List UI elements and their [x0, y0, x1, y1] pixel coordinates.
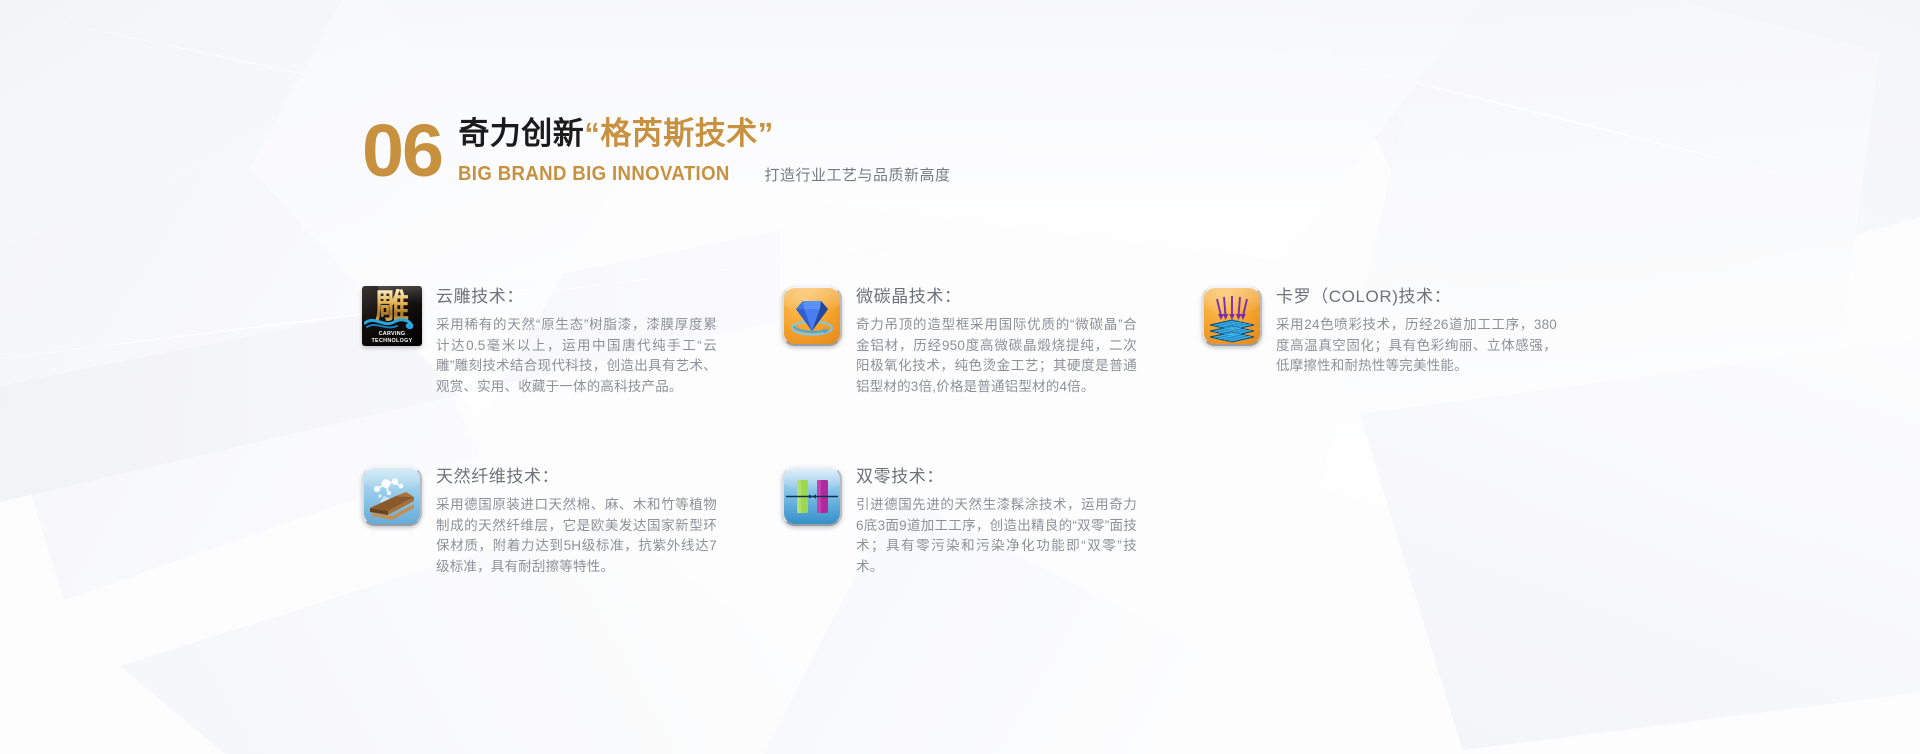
molecule-wood-glyph-icon — [362, 466, 422, 526]
tech-card-natural-fiber[interactable]: 天然纤维技术： 采用德国原装进口天然棉、麻、木和竹等植物制成的天然纤维层，它是欧… — [362, 466, 717, 577]
bars-glyph-icon — [782, 466, 842, 526]
card-description: 引进德国先进的天然生漆髹涂技术，运用奇力6底3面9道加工工序，创造出精良的“双零… — [856, 495, 1137, 577]
page-title-main: 奇力创新 — [458, 116, 584, 151]
tech-card-double-zero[interactable]: 双零技术： 引进德国先进的天然生漆髹涂技术，运用奇力6底3面9道加工工序，创造出… — [782, 466, 1137, 577]
tech-card-empty-slot — [1202, 466, 1557, 577]
card-title: 卡罗（COLOR)技术： — [1276, 286, 1557, 308]
page-title-quoted: “格芮斯技术” — [584, 116, 774, 151]
card-title: 微碳晶技术： — [856, 286, 1137, 308]
section-subtitle: BIG BRAND BIG INNOVATION 打造行业工艺与品质新高度 — [458, 163, 950, 186]
tech-card-carving[interactable]: 雕 CARVING TECHNOLOGY 云雕技术： 采用稀有的天然“原生态”树… — [362, 286, 717, 397]
tech-card-micro-carbon-crystal[interactable]: 微碳晶技术： 奇力吊顶的造型框采用国际优质的“微碳晶”合金铝材，历经950度高微… — [782, 286, 1137, 397]
tech-card-body: 双零技术： 引进德国先进的天然生漆髹涂技术，运用奇力6底3面9道加工工序，创造出… — [856, 466, 1137, 577]
carving-icon-wave — [364, 312, 420, 330]
subtitle-chinese: 打造行业工艺与品质新高度 — [765, 164, 951, 185]
card-title: 双零技术： — [856, 466, 1137, 488]
section-number: 06 — [362, 114, 442, 184]
tech-card-body: 天然纤维技术： 采用德国原装进口天然棉、麻、木和竹等植物制成的天然纤维层，它是欧… — [436, 466, 717, 577]
carving-caption-line-2: TECHNOLOGY — [362, 338, 422, 344]
double-zero-bars-icon — [782, 466, 842, 526]
section-header: 06 奇力创新“格芮斯技术” BIG BRAND BIG INNOVATION … — [362, 114, 951, 186]
spray-arrows-layers-glyph-icon — [1202, 286, 1262, 346]
double-zero-icon-box — [782, 466, 842, 526]
carving-technology-icon: 雕 CARVING TECHNOLOGY — [362, 286, 422, 346]
color-icon-box — [1202, 286, 1262, 346]
tech-card-color[interactable]: 卡罗（COLOR)技术： 采用24色喷彩技术，历经26道加工工序，380度高温真… — [1202, 286, 1557, 397]
diamond-glyph-icon — [782, 286, 842, 346]
subtitle-english: BIG BRAND BIG INNOVATION — [458, 163, 730, 186]
technology-cards-grid: 雕 CARVING TECHNOLOGY 云雕技术： 采用稀有的天然“原生态”树… — [362, 286, 1602, 577]
cards-row-2: 天然纤维技术： 采用德国原装进口天然棉、麻、木和竹等植物制成的天然纤维层，它是欧… — [362, 466, 1602, 577]
background-edge-2 — [1230, 35, 1910, 206]
section-header-text: 奇力创新“格芮斯技术” BIG BRAND BIG INNOVATION 打造行… — [458, 114, 950, 186]
card-description: 采用稀有的天然“原生态”树脂漆，漆膜厚度累计达0.5毫米以上，运用中国唐代纯手工… — [436, 315, 717, 397]
page-title: 奇力创新“格芮斯技术” — [458, 114, 950, 154]
tech-card-body: 微碳晶技术： 奇力吊顶的造型框采用国际优质的“微碳晶”合金铝材，历经950度高微… — [856, 286, 1137, 397]
micro-carbon-crystal-diamond-icon — [782, 286, 842, 346]
diamond-icon-box — [782, 286, 842, 346]
fiber-icon-box — [362, 466, 422, 526]
card-description: 奇力吊顶的造型框采用国际优质的“微碳晶”合金铝材，历经950度高微碳晶煅烧提纯，… — [856, 315, 1137, 397]
card-description: 采用德国原装进口天然棉、麻、木和竹等植物制成的天然纤维层，它是欧美发达国家新型环… — [436, 495, 717, 577]
color-spray-layers-icon — [1202, 286, 1262, 346]
page-root: 06 奇力创新“格芮斯技术” BIG BRAND BIG INNOVATION … — [0, 0, 1920, 754]
natural-fiber-molecule-wood-icon — [362, 466, 422, 526]
tech-card-body: 云雕技术： 采用稀有的天然“原生态”树脂漆，漆膜厚度累计达0.5毫米以上，运用中… — [436, 286, 717, 397]
card-description: 采用24色喷彩技术，历经26道加工工序，380度高温真空固化；具有色彩绚丽、立体… — [1276, 315, 1557, 377]
background-edge-3 — [0, 2, 514, 119]
carving-icon-box: 雕 CARVING TECHNOLOGY — [362, 286, 422, 346]
cards-row-1: 雕 CARVING TECHNOLOGY 云雕技术： 采用稀有的天然“原生态”树… — [362, 286, 1602, 397]
carving-icon-caption: CARVING TECHNOLOGY — [362, 331, 422, 344]
card-title: 云雕技术： — [436, 286, 717, 308]
tech-card-body: 卡罗（COLOR)技术： 采用24色喷彩技术，历经26道加工工序，380度高温真… — [1276, 286, 1557, 377]
card-title: 天然纤维技术： — [436, 466, 717, 488]
